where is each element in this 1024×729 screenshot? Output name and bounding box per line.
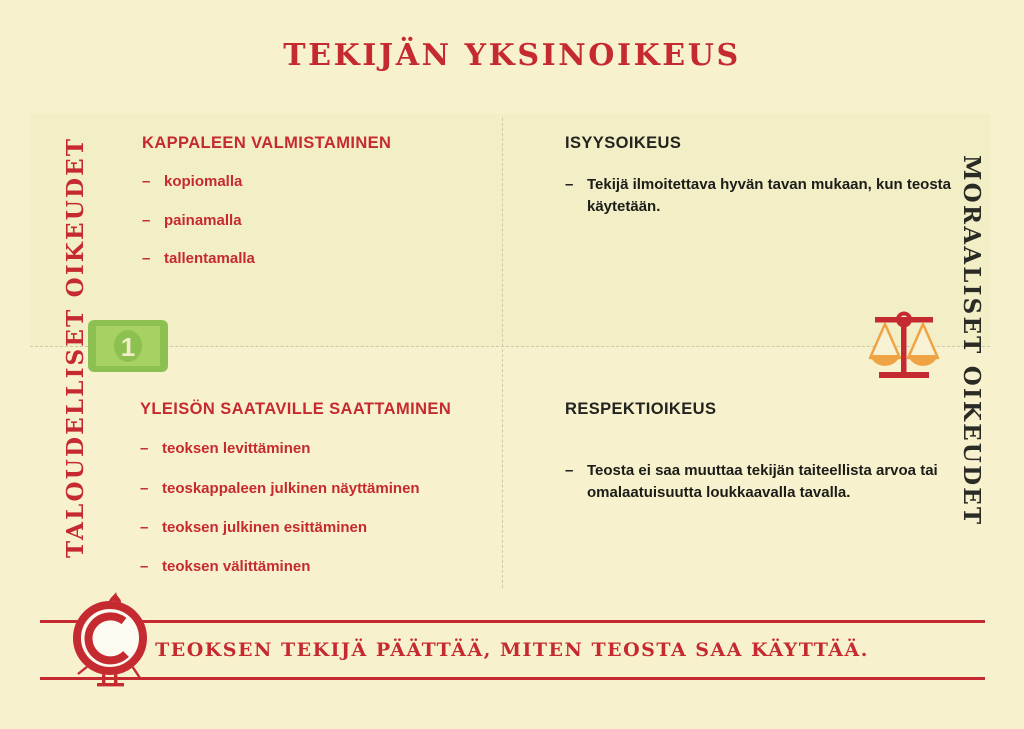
quadrant-heading: YLEISÖN SAATAVILLE SAATTAMINEN	[140, 398, 490, 420]
balance-scales-icon	[863, 306, 945, 384]
dash-bullet: –	[142, 210, 150, 231]
list-item-label: Tekijä ilmoitettava hyvän tavan mukaan, …	[587, 176, 951, 214]
list-item: –kopiomalla	[142, 171, 472, 192]
list-item: –teoskappaleen julkinen näyttäminen	[140, 478, 490, 499]
list-item-label: Teosta ei saa muuttaa tekijän taiteellis…	[587, 462, 938, 500]
list-item-label: kopiomalla	[164, 173, 242, 190]
quadrant-heading: ISYYSOIKEUS	[565, 132, 965, 154]
quadrant-heading: RESPEKTIOIKEUS	[565, 398, 965, 420]
dash-bullet: –	[142, 171, 150, 192]
list-item-label: teoskappaleen julkinen näyttäminen	[162, 480, 420, 497]
list-item: –teoksen levittäminen	[140, 438, 490, 459]
list-item-label: teoksen levittäminen	[162, 440, 310, 457]
dash-bullet: –	[140, 478, 148, 499]
banner-rule-bottom	[40, 677, 985, 680]
dash-bullet: –	[140, 438, 148, 459]
list-item-label: teoksen julkinen esittäminen	[162, 519, 367, 536]
list-item-label: painamalla	[164, 212, 242, 229]
quadrant-item-list: –kopiomalla –painamalla –tallentamalla	[142, 171, 472, 269]
quadrant-item-list: –Teosta ei saa muuttaa tekijän taiteelli…	[565, 460, 965, 503]
list-item-label: teoksen välittäminen	[162, 558, 310, 575]
side-label-economic-rights: TALOUDELLISET OIKEUDET	[62, 137, 89, 558]
dash-bullet: –	[565, 174, 573, 195]
dash-bullet: –	[140, 517, 148, 538]
quadrant-respektioikeus: RESPEKTIOIKEUS –Teosta ei saa muuttaa te…	[565, 398, 965, 503]
quadrant-heading: KAPPALEEN VALMISTAMINEN	[142, 132, 472, 154]
dash-bullet: –	[142, 248, 150, 269]
list-item: –Teosta ei saa muuttaa tekijän taiteelli…	[565, 460, 965, 503]
list-item: –teoksen julkinen esittäminen	[140, 517, 490, 538]
dash-bullet: –	[140, 556, 148, 577]
page-title: TEKIJÄN YKSINOIKEUS	[0, 38, 1024, 73]
list-item: –tallentamalla	[142, 248, 472, 269]
dash-bullet: –	[565, 460, 573, 481]
banner-rule-top	[40, 620, 985, 623]
quadrant-kappaleen-valmistaminen: KAPPALEEN VALMISTAMINEN –kopiomalla –pai…	[142, 132, 472, 269]
list-item: –Tekijä ilmoitettava hyvän tavan mukaan,…	[565, 174, 965, 217]
infographic-poster: TEKIJÄN YKSINOIKEUS TALOUDELLISET OIKEUD…	[0, 0, 1024, 729]
quadrant-item-list: –teoksen levittäminen –teoskappaleen jul…	[140, 438, 490, 577]
quadrant-isyysoikeus: ISYYSOIKEUS –Tekijä ilmoitettava hyvän t…	[565, 132, 965, 217]
quadrant-yleison-saataville-saattaminen: YLEISÖN SAATAVILLE SAATTAMINEN –teoksen …	[140, 398, 490, 577]
horizontal-divider	[30, 346, 990, 347]
banknote-icon: 1	[88, 320, 168, 372]
list-item: –teoksen välittäminen	[140, 556, 490, 577]
quadrant-item-list: –Tekijä ilmoitettava hyvän tavan mukaan,…	[565, 174, 965, 217]
list-item-label: tallentamalla	[164, 250, 255, 267]
banknote-value: 1	[121, 332, 135, 362]
list-item: –painamalla	[142, 210, 472, 231]
copyright-mascot-icon	[64, 592, 164, 692]
vertical-divider	[502, 118, 503, 588]
